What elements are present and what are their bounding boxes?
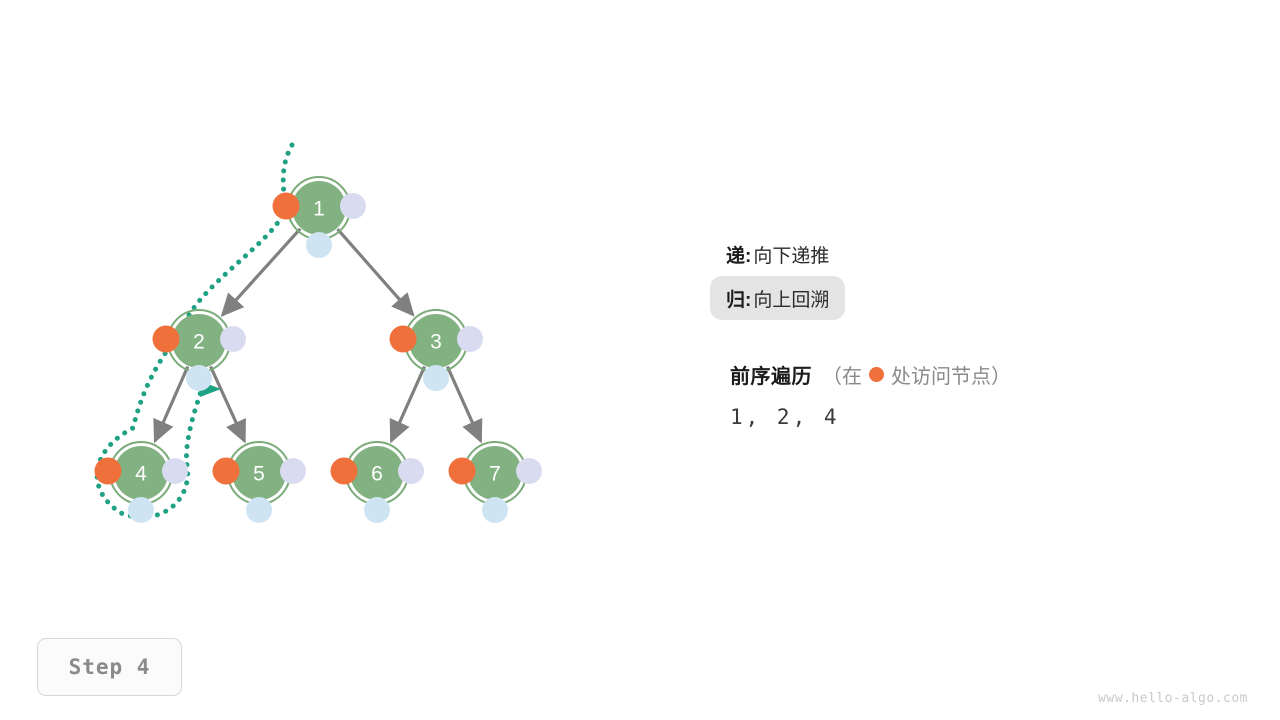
node-descend-dot — [186, 365, 212, 391]
tree-node-6[interactable]: 6 — [331, 442, 425, 523]
tree-node-5[interactable]: 5 — [213, 442, 307, 523]
tree-edge — [222, 229, 300, 315]
traversal-note-after: 处访问节点） — [891, 360, 1011, 389]
node-descend-dot — [364, 497, 390, 523]
node-label: 2 — [193, 331, 205, 354]
traversal-title: 前序遍历 — [730, 360, 812, 389]
legend-key-di: 递: — [726, 241, 751, 268]
node-descend-dot — [423, 365, 449, 391]
tree-node-2[interactable]: 2 — [153, 310, 247, 391]
traversal-note-before: （在 — [822, 360, 862, 389]
node-visit-dot — [331, 458, 358, 485]
diagram-canvas: 1234567 递: 向下递推 归: 向上回溯 前序遍历 （在 处访问节点） 1… — [0, 0, 1280, 720]
step-badge: Step 4 — [37, 638, 182, 696]
node-visit-dot — [449, 458, 476, 485]
node-label: 7 — [489, 463, 501, 486]
legend-row-di: 递: 向下递推 — [726, 232, 1246, 276]
node-descend-dot — [482, 497, 508, 523]
node-label: 3 — [430, 331, 442, 354]
node-visit-dot — [390, 326, 417, 353]
tree-edge — [391, 367, 424, 441]
node-visit-dot — [213, 458, 240, 485]
traversal-note: （在 处访问节点） — [822, 360, 1011, 389]
footer-url: www.hello-algo.com — [1098, 691, 1248, 706]
node-return-dot — [162, 458, 188, 484]
node-visit-dot — [273, 193, 300, 220]
tree-edge — [211, 366, 245, 441]
node-descend-dot — [306, 232, 332, 258]
node-visit-dot — [95, 458, 122, 485]
node-label: 4 — [135, 463, 147, 486]
node-return-dot — [220, 326, 246, 352]
tree-node-layer: 1234567 — [95, 177, 543, 523]
node-descend-dot — [128, 497, 154, 523]
node-return-dot — [280, 458, 306, 484]
node-label: 5 — [253, 463, 265, 486]
node-label: 6 — [371, 463, 383, 486]
legend-key-gui: 归: — [726, 285, 751, 312]
node-descend-dot — [246, 497, 272, 523]
node-return-dot — [516, 458, 542, 484]
traversal-title-row: 前序遍历 （在 处访问节点） — [730, 360, 1250, 389]
tree-edge — [155, 367, 188, 441]
visit-dot-icon — [869, 367, 884, 382]
legend-value-di: 向下递推 — [753, 241, 829, 268]
tree-node-4[interactable]: 4 — [95, 442, 189, 523]
tree-edge — [447, 367, 480, 441]
tree-edge — [337, 229, 412, 315]
traversal-sequence: 1, 2, 4 — [730, 405, 1250, 429]
node-return-dot — [398, 458, 424, 484]
legend: 递: 向下递推 归: 向上回溯 — [726, 232, 1246, 320]
tree-node-3[interactable]: 3 — [390, 310, 484, 391]
node-return-dot — [457, 326, 483, 352]
tree-node-7[interactable]: 7 — [449, 442, 543, 523]
node-return-dot — [340, 193, 366, 219]
legend-value-gui: 向上回溯 — [753, 285, 829, 312]
node-label: 1 — [313, 198, 325, 221]
legend-row-gui: 归: 向上回溯 — [710, 276, 845, 320]
traversal-order-block: 前序遍历 （在 处访问节点） 1, 2, 4 — [730, 360, 1250, 429]
step-badge-label: Step 4 — [69, 655, 151, 679]
node-visit-dot — [153, 326, 180, 353]
